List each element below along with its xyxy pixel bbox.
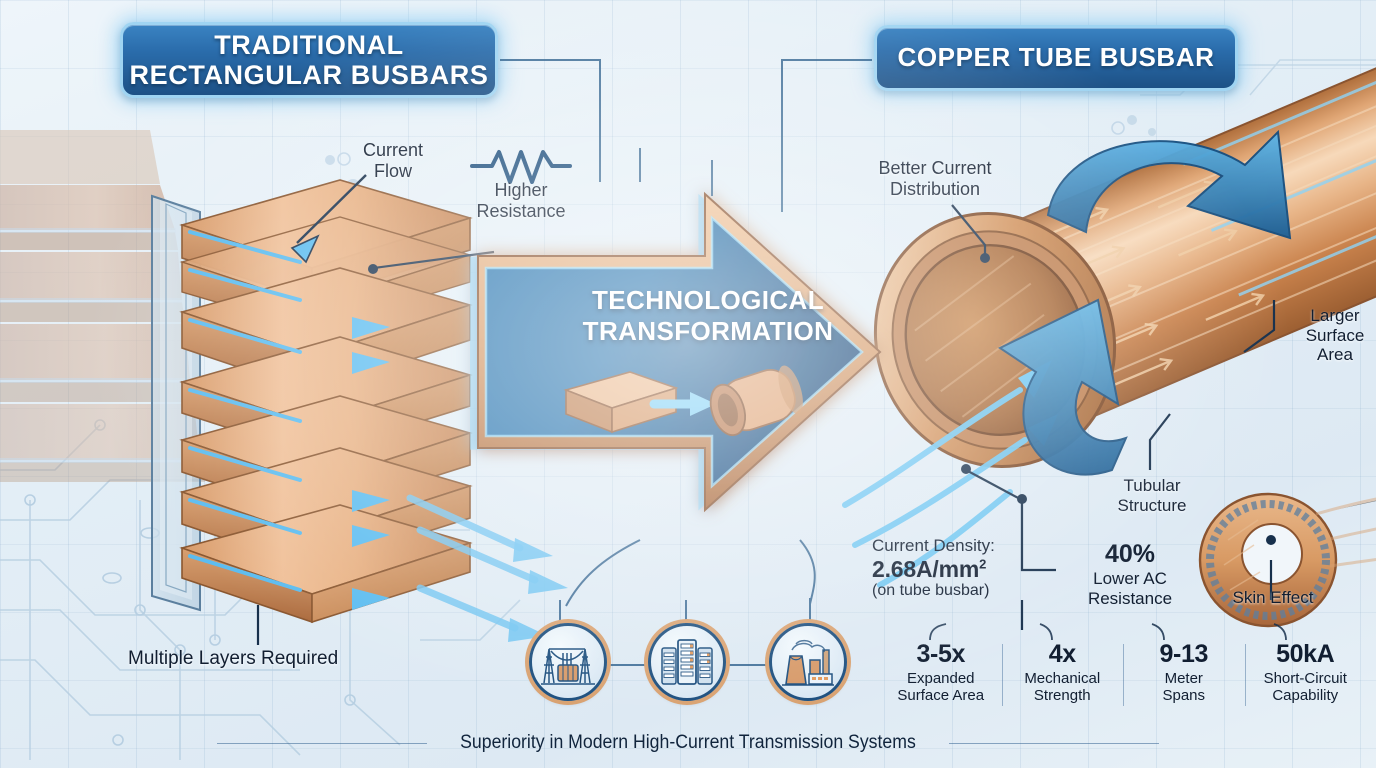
footer-caption-row: Superiority in Modern High-Current Trans…	[0, 732, 1376, 754]
substation-icon[interactable]	[529, 623, 607, 701]
footer-caption: Superiority in Modern High-Current Trans…	[460, 732, 916, 754]
label-higher-resistance: Higher Resistance	[466, 180, 576, 221]
label-better-current-distribution: Better Current Distribution	[862, 158, 1008, 199]
stat-label: Mechanical Strength	[1006, 670, 1120, 704]
infographic-canvas: TRADITIONAL RECTANGULAR BUSBARS COPPER T…	[0, 0, 1376, 768]
stat-value: 9-13	[1127, 640, 1241, 669]
current-density-note: (on tube busbar)	[872, 582, 1058, 601]
stat-value: 3-5x	[884, 640, 998, 669]
ac-resistance-value: 40%	[1060, 540, 1200, 569]
stat-label: Meter Spans	[1127, 670, 1241, 704]
current-density-value: 2.68A/mm2	[872, 556, 1058, 583]
data-center-icon[interactable]	[648, 623, 726, 701]
current-density-label: Current Density:	[872, 536, 1058, 556]
footer-rule-right	[949, 743, 1159, 744]
power-plant-icon[interactable]	[769, 623, 847, 701]
resistor-icon	[472, 152, 570, 182]
label-skin-effect: Skin Effect	[1218, 588, 1328, 608]
label-tubular-structure: Tubular Structure	[1104, 476, 1200, 515]
current-density-block: Current Density: 2.68A/mm2 (on tube busb…	[872, 536, 1058, 601]
label-larger-surface-area: Larger Surface Area	[1296, 306, 1374, 365]
stat-item: 9-13 Meter Spans	[1123, 640, 1245, 704]
ac-resistance-block: 40% Lower AC Resistance	[1060, 540, 1200, 608]
ac-resistance-label: Lower AC Resistance	[1060, 569, 1200, 608]
current-density-number: 2.68A/mm	[872, 556, 979, 582]
stat-item: 50kA Short-Circuit Capability	[1245, 640, 1367, 704]
stats-row: 3-5x Expanded Surface Area 4x Mechanical…	[880, 640, 1366, 720]
footer-rule-left	[217, 743, 427, 744]
stat-value: 50kA	[1249, 640, 1363, 669]
stat-item: 4x Mechanical Strength	[1002, 640, 1124, 704]
stat-label: Expanded Surface Area	[884, 670, 998, 704]
stat-label: Short-Circuit Capability	[1249, 670, 1363, 704]
stat-item: 3-5x Expanded Surface Area	[880, 640, 1002, 704]
label-multiple-layers: Multiple Layers Required	[128, 648, 388, 670]
current-density-exponent: 2	[979, 556, 986, 571]
stat-value: 4x	[1006, 640, 1120, 669]
